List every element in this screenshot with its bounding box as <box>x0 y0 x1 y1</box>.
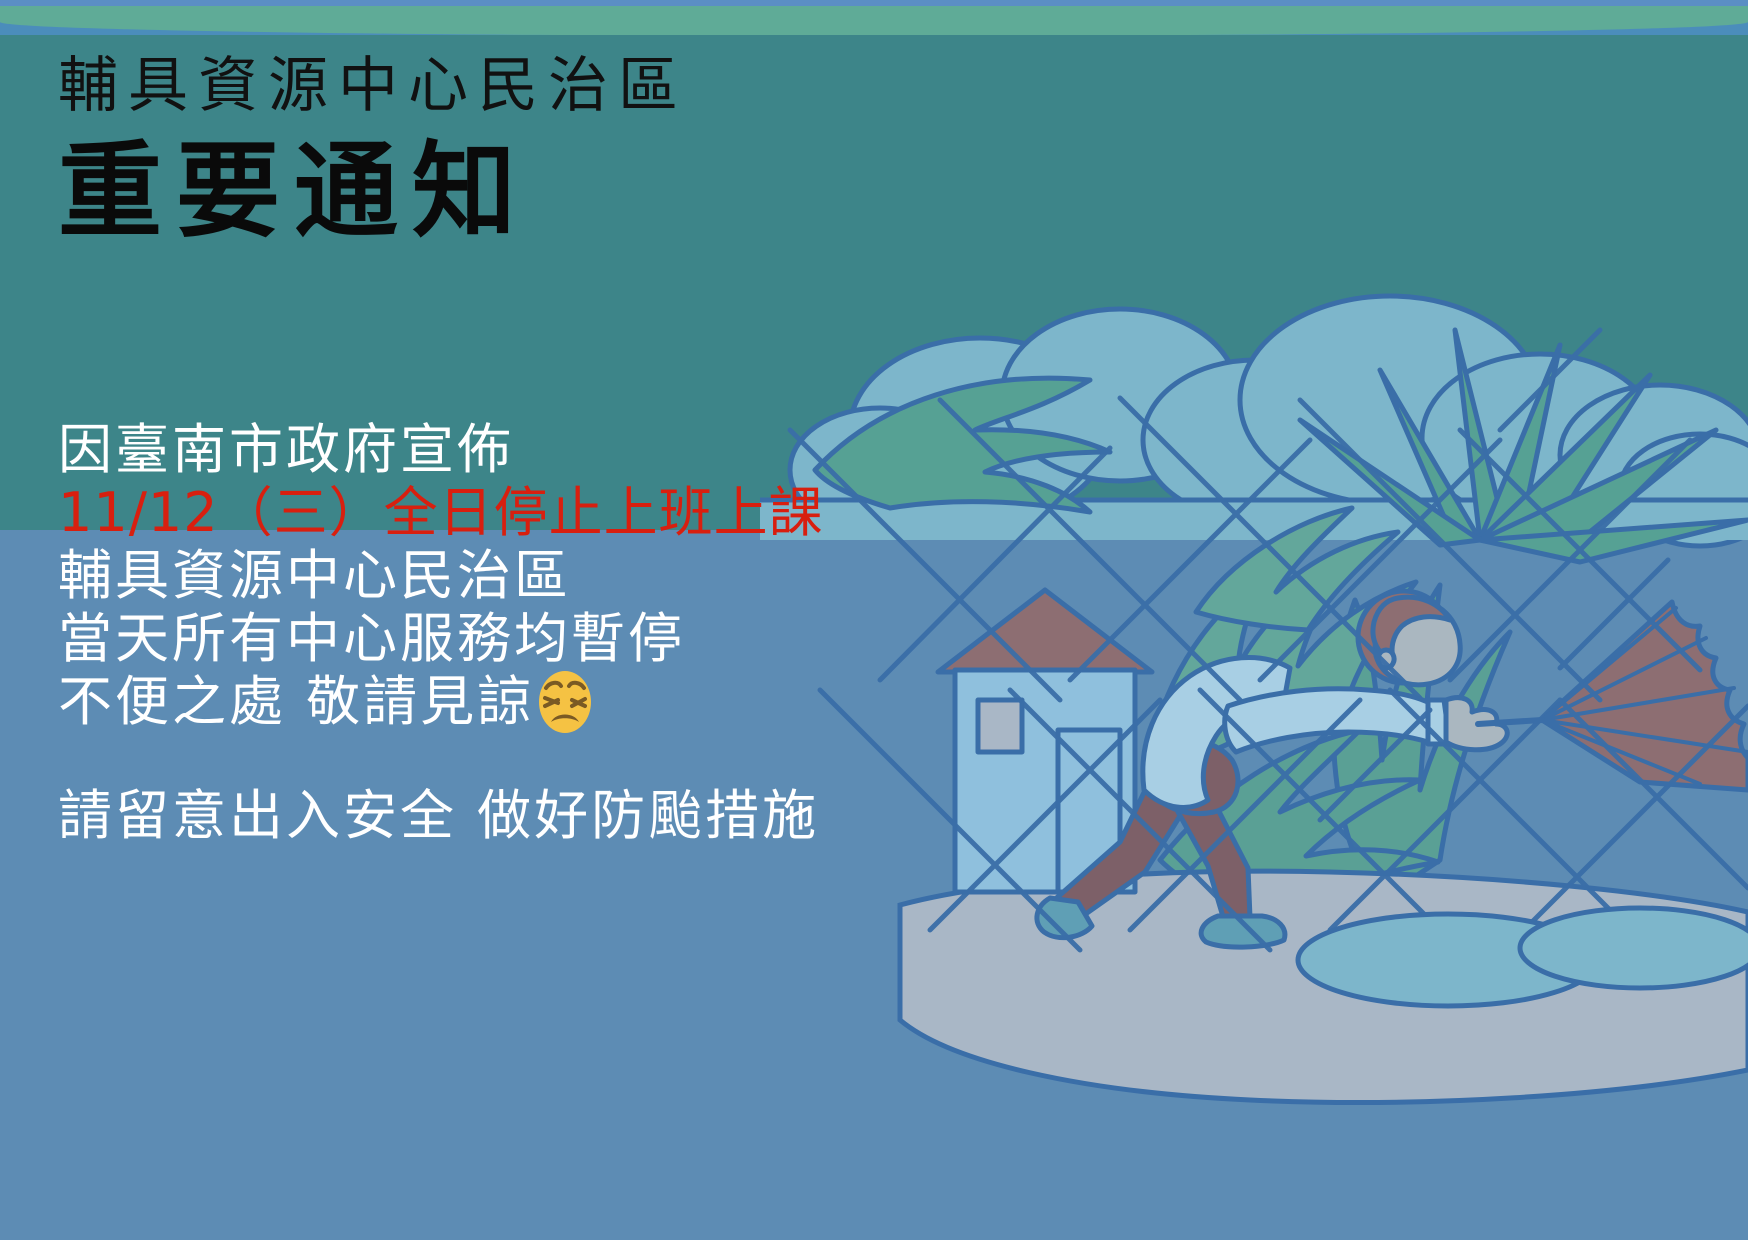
green-wave-band <box>0 6 1748 36</box>
headline-center-name: 輔具資源中心民治區 <box>58 52 1058 121</box>
body-line-center-name: 輔具資源中心民治區 <box>58 544 1118 607</box>
typhoon-notice-poster: 輔具資源中心民治區 重要通知 因臺南市政府宣佈 11/12（三）全日停止上班上課… <box>0 0 1748 1240</box>
body-line-reason: 因臺南市政府宣佈 <box>58 418 1118 481</box>
persevering-face-icon <box>536 670 594 734</box>
headline-important-notice: 重要通知 <box>58 129 1058 254</box>
body-line-closure-announcement: 11/12（三）全日停止上班上課 <box>58 481 1118 544</box>
body-line-services-suspended: 當天所有中心服務均暫停 <box>58 607 1118 670</box>
body-line-safety-reminder: 請留意出入安全 做好防颱措施 <box>58 784 1118 847</box>
body-block: 因臺南市政府宣佈 11/12（三）全日停止上班上課 輔具資源中心民治區 當天所有… <box>58 418 1118 847</box>
headline-block: 輔具資源中心民治區 重要通知 <box>58 52 1058 254</box>
body-line-apology-text: 不便之處 敬請見諒 <box>58 670 534 733</box>
body-line-apology-row: 不便之處 敬請見諒 <box>58 670 1118 734</box>
